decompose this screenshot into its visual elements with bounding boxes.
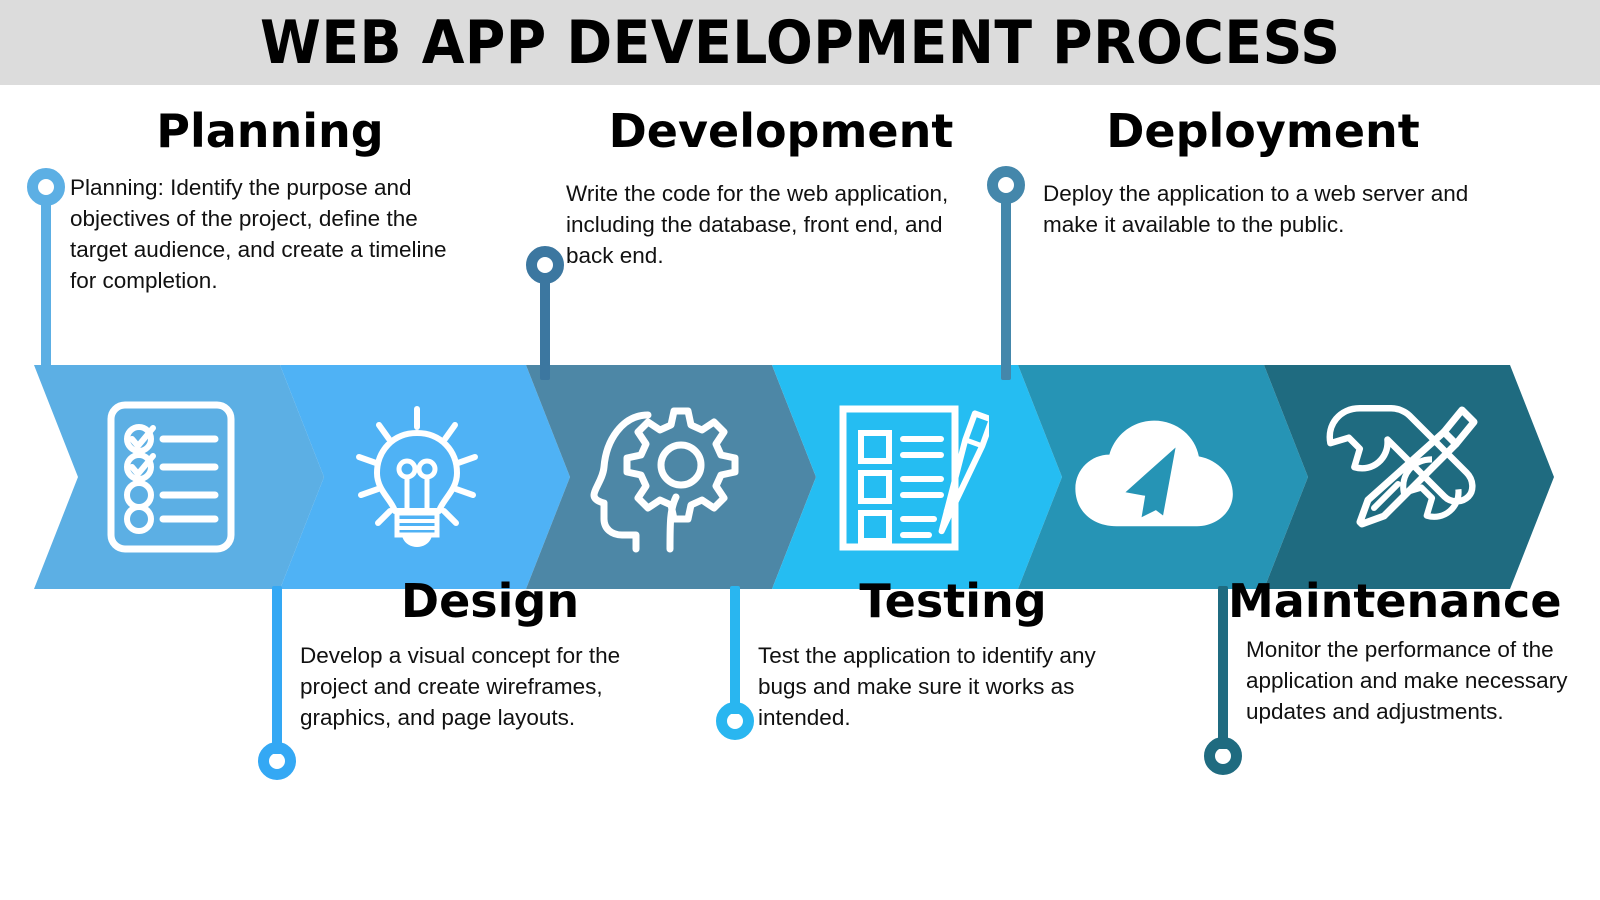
step-block-maintenance: Maintenance Monitor the performance of t… [1228,578,1598,727]
step-title-design: Design [300,578,680,624]
step-description-planning: Planning: Identify the purpose and objec… [70,172,470,296]
pin-stem-maintenance [1218,586,1228,749]
step-title-maintenance: Maintenance [1228,578,1598,624]
pin-ring-maintenance [1204,737,1242,775]
step-description-deployment: Deploy the application to a web server a… [1043,178,1483,240]
wrench-screwdriver-icon [1316,392,1486,562]
pin-stem-development [540,278,550,380]
step-description-design: Develop a visual concept for the project… [300,640,680,733]
pin-ring-design [258,742,296,780]
lightbulb-icon [332,392,502,562]
head-gear-icon [578,392,748,562]
step-title-planning: Planning [70,108,470,154]
pin-stem-deployment [1001,198,1011,380]
test-form-pen-icon [824,392,994,562]
pin-stem-testing [730,586,740,714]
pin-stem-planning [41,200,51,380]
step-block-deployment: Deployment Deploy the application to a w… [1043,108,1483,240]
step-block-planning: Planning Planning: Identify the purpose … [70,108,470,296]
step-block-development: Development Write the code for the web a… [566,108,996,271]
step-title-deployment: Deployment [1043,108,1483,154]
pin-testing[interactable] [716,586,754,756]
step-description-development: Write the code for the web application, … [566,178,996,271]
pin-planning[interactable] [27,168,65,378]
pin-ring-testing [716,702,754,740]
step-description-maintenance: Monitor the performance of the applicati… [1246,634,1598,727]
step-description-testing: Test the application to identify any bug… [758,640,1148,733]
step-title-development: Development [566,108,996,154]
pin-design[interactable] [258,586,296,796]
step-block-design: Design Develop a visual concept for the … [300,578,680,733]
cloud-upload-icon [1070,392,1240,562]
pin-stem-design [272,586,282,754]
pin-development[interactable] [526,246,564,376]
chevron-planning[interactable] [34,365,324,589]
step-title-testing: Testing [758,578,1148,624]
process-chevron-band [0,365,1600,589]
step-block-testing: Testing Test the application to identify… [758,578,1148,733]
title-band: WEB APP DEVELOPMENT PROCESS [0,0,1600,85]
checklist-icon [86,392,256,562]
page-title: WEB APP DEVELOPMENT PROCESS [260,8,1341,78]
